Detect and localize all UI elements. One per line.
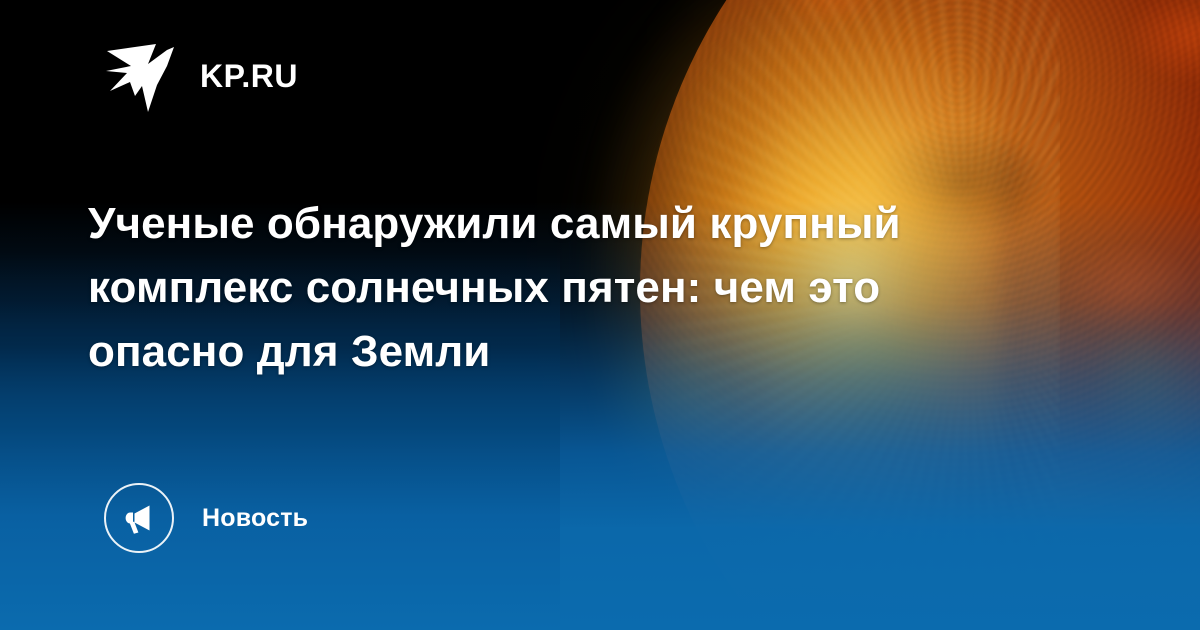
status-badge[interactable]: Новость — [104, 483, 308, 553]
swallow-bird-icon — [104, 38, 178, 114]
brand-lockup[interactable]: KP.RU — [104, 38, 298, 114]
megaphone-icon-circle — [104, 483, 174, 553]
page-title: Ученые обнаружили самый крупный комплекс… — [88, 192, 1048, 384]
badge-label: Новость — [202, 506, 308, 531]
card-content: KP.RU Ученые обнаружили самый крупный ко… — [0, 0, 1200, 630]
share-card: KP.RU Ученые обнаружили самый крупный ко… — [0, 0, 1200, 630]
brand-name: KP.RU — [200, 60, 298, 92]
megaphone-icon — [122, 501, 156, 535]
